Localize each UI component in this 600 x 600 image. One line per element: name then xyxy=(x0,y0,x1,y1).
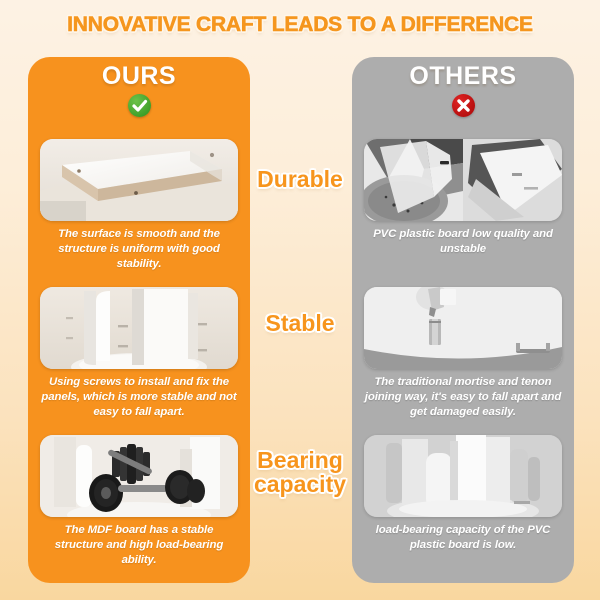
others-item-2-caption: The traditional mortise and tenon joinin… xyxy=(364,375,562,420)
ours-title: OURS xyxy=(28,57,250,91)
feature-label-bearing-line2: capacity xyxy=(250,472,350,496)
others-title: OTHERS xyxy=(352,57,574,91)
cross-circle-icon xyxy=(452,94,475,117)
ours-item-1-photo xyxy=(40,139,238,221)
feature-label-bearing-line1: Bearing xyxy=(250,448,350,472)
ours-item-3-photo xyxy=(40,435,238,517)
comparison-infographic: INNOVATIVE CRAFT LEADS TO A DIFFERENCE O… xyxy=(0,0,600,600)
ours-item-2-photo xyxy=(40,287,238,369)
feature-label-durable: Durable xyxy=(250,167,350,191)
others-item-1-photo xyxy=(364,139,562,221)
ours-item-2-caption: Using screws to install and fix the pane… xyxy=(40,375,238,420)
check-circle-icon xyxy=(128,94,151,117)
others-header: OTHERS xyxy=(352,57,574,125)
ours-item-3-caption: The MDF board has a stable structure and… xyxy=(40,523,238,568)
others-item-3-photo xyxy=(364,435,562,517)
feature-label-stable: Stable xyxy=(250,311,350,335)
others-item-3: load-bearing capacity of the PVC plastic… xyxy=(364,435,562,553)
ours-item-1: The surface is smooth and the structure … xyxy=(40,139,238,272)
page-title: INNOVATIVE CRAFT LEADS TO A DIFFERENCE xyxy=(0,13,600,37)
others-item-2: The traditional mortise and tenon joinin… xyxy=(364,287,562,420)
ours-item-3: The MDF board has a stable structure and… xyxy=(40,435,238,568)
column-others: OTHERS xyxy=(352,57,574,583)
column-ours: OURS xyxy=(28,57,250,583)
ours-item-2: Using screws to install and fix the pane… xyxy=(40,287,238,420)
feature-label-bearing-capacity: Bearing capacity xyxy=(250,448,350,496)
others-item-1-caption: PVC plastic board low quality and unstab… xyxy=(364,227,562,257)
others-item-1: PVC plastic board low quality and unstab… xyxy=(364,139,562,257)
others-item-2-photo xyxy=(364,287,562,369)
others-item-3-caption: load-bearing capacity of the PVC plastic… xyxy=(364,523,562,553)
ours-header: OURS xyxy=(28,57,250,125)
ours-item-1-caption: The surface is smooth and the structure … xyxy=(40,227,238,272)
